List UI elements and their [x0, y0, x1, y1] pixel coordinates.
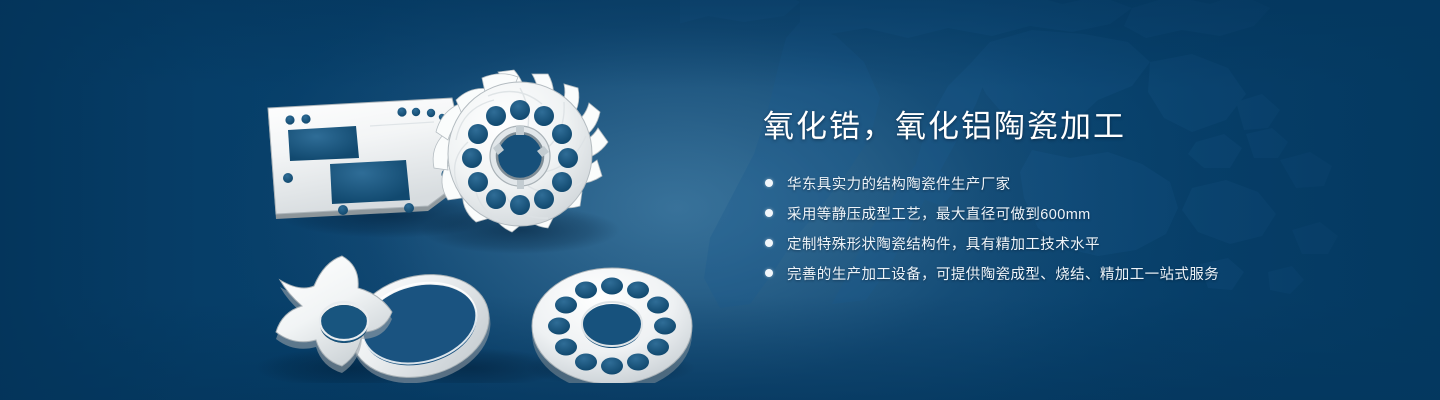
feature-item: 采用等静压成型工艺，最大直径可做到600mm	[765, 203, 1383, 224]
bullet-dot-icon	[765, 179, 773, 187]
feature-text: 定制特殊形状陶瓷结构件，具有精加工技术水平	[787, 233, 1100, 254]
feature-text: 完善的生产加工设备，可提供陶瓷成型、烧结、精加工一站式服务	[787, 263, 1219, 284]
banner-headline: 氧化锆，氧化铝陶瓷加工	[763, 108, 1383, 147]
bullet-dot-icon	[765, 239, 773, 247]
feature-item: 华东具实力的结构陶瓷件生产厂家	[765, 173, 1383, 194]
feature-item: 定制特殊形状陶瓷结构件，具有精加工技术水平	[765, 233, 1383, 254]
feature-text: 华东具实力的结构陶瓷件生产厂家	[787, 173, 1011, 194]
bullet-dot-icon	[765, 269, 773, 277]
feature-item: 完善的生产加工设备，可提供陶瓷成型、烧结、精加工一站式服务	[765, 263, 1383, 284]
promo-banner: 氧化锆，氧化铝陶瓷加工 华东具实力的结构陶瓷件生产厂家 采用等静压成型工艺，最大…	[0, 0, 1440, 400]
bullet-dot-icon	[765, 209, 773, 217]
banner-feature-list: 华东具实力的结构陶瓷件生产厂家 采用等静压成型工艺，最大直径可做到600mm 定…	[765, 173, 1383, 284]
ceramic-products-photo	[220, 38, 720, 383]
part-perforated-disc	[532, 268, 692, 383]
feature-text: 采用等静压成型工艺，最大直径可做到600mm	[787, 203, 1091, 224]
banner-copy: 氧化锆，氧化铝陶瓷加工 华东具实力的结构陶瓷件生产厂家 采用等静压成型工艺，最大…	[763, 108, 1383, 293]
